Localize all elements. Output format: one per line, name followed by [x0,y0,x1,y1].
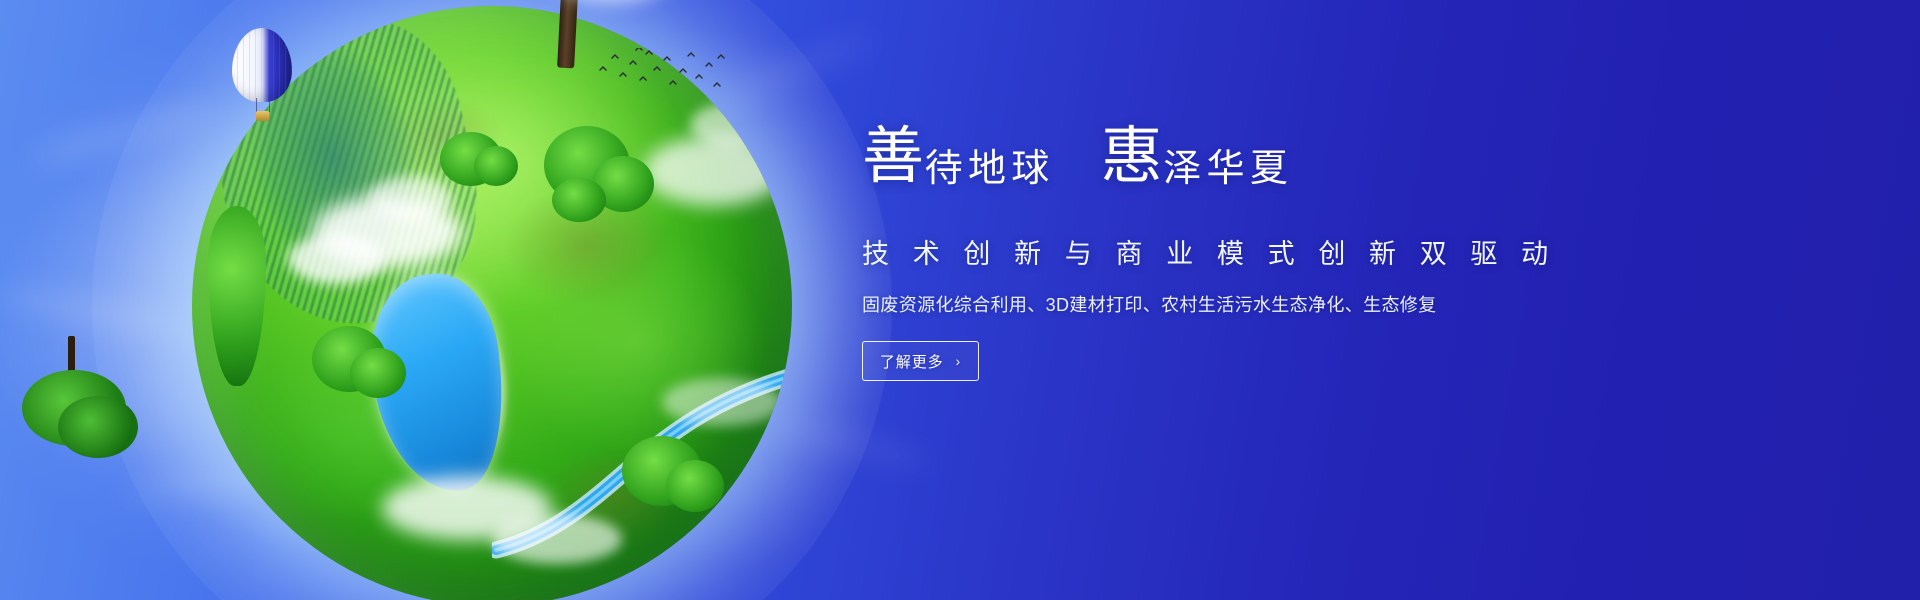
hot-air-balloon [232,28,292,128]
globe-cloud [644,136,784,206]
subtitle: 技 术 创 新 与 商 业 模 式 创 新 双 驱 动 [862,232,1862,271]
balloon-lines [256,98,270,112]
globe-cloud [492,514,622,564]
chevron-right-icon: › [956,353,962,369]
globe-cloud [368,176,452,220]
globe-cloud [288,234,384,284]
balloon-basket [256,111,269,121]
globe-cloud [662,378,782,426]
learn-more-label: 了解更多 [880,351,944,372]
hero-copy: 善 待地球 惠 泽华夏 技 术 创 新 与 商 业 模 式 创 新 双 驱 动 … [862,126,1862,381]
bird-flock [596,48,726,94]
headline: 善 待地球 惠 泽华夏 [862,126,1862,210]
balloon-envelope [232,28,292,102]
headline-part2-small: 泽华夏 [1163,150,1293,188]
headline-part1-big: 善 [862,126,925,188]
tree-trunk [557,0,580,68]
hero-banner: 善 待地球 惠 泽华夏 技 术 创 新 与 商 业 模 式 创 新 双 驱 动 … [0,0,1920,600]
headline-part1-small: 待地球 [925,150,1055,188]
description: 固废资源化综合利用、3D建材打印、农村生活污水生态净化、生态修复 [862,291,1862,317]
headline-part2-big: 惠 [1101,126,1164,188]
learn-more-button[interactable]: 了解更多 › [862,341,979,381]
globe-cloud [690,102,786,148]
